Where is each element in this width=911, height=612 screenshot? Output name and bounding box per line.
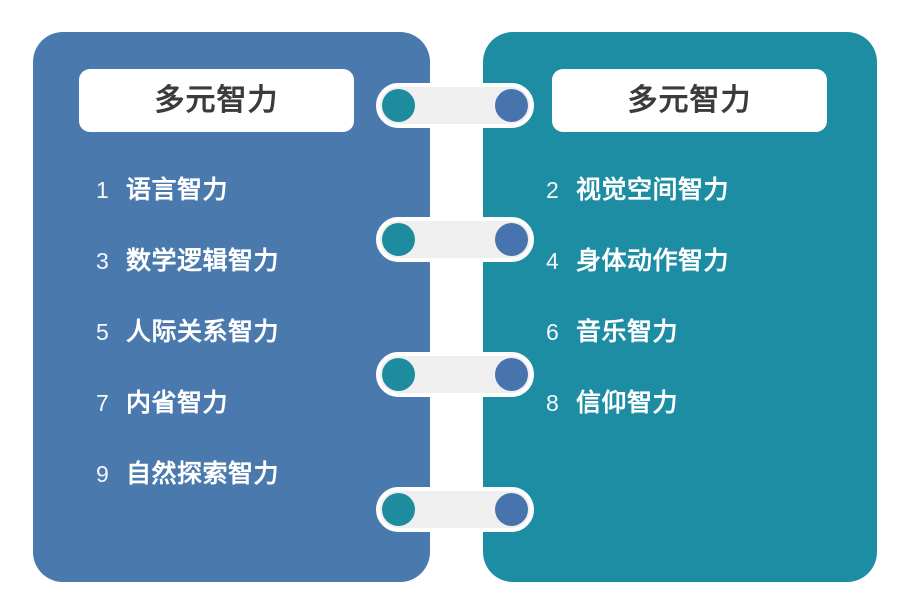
list-item: 6 音乐智力 <box>546 320 729 391</box>
diagram-canvas: 多元智力 多元智力 1 语言智力 3 数学逻辑智力 5 人际关系智力 7 内省智… <box>0 0 911 612</box>
left-panel-title-box: 多元智力 <box>79 69 354 132</box>
list-item-label: 数学逻辑智力 <box>126 249 279 274</box>
list-item-number: 8 <box>546 392 576 415</box>
left-panel-item-list: 1 语言智力 3 数学逻辑智力 5 人际关系智力 7 内省智力 9 自然探索智力 <box>96 178 279 533</box>
list-item: 5 人际关系智力 <box>96 320 279 391</box>
connector-dot-left-icon <box>382 89 415 122</box>
panel-connector <box>376 83 534 128</box>
right-panel-item-list: 2 视觉空间智力 4 身体动作智力 6 音乐智力 8 信仰智力 <box>546 178 729 462</box>
list-item-label: 内省智力 <box>126 391 228 416</box>
list-item-number: 1 <box>96 179 126 202</box>
list-item-number: 5 <box>96 321 126 344</box>
connector-dot-right-icon <box>495 89 528 122</box>
panel-connector <box>376 487 534 532</box>
list-item-number: 3 <box>96 250 126 273</box>
connector-dot-right-icon <box>495 358 528 391</box>
connector-dot-left-icon <box>382 493 415 526</box>
list-item-number: 4 <box>546 250 576 273</box>
list-item: 8 信仰智力 <box>546 391 729 462</box>
right-panel-title-text: 多元智力 <box>628 86 752 116</box>
list-item-number: 6 <box>546 321 576 344</box>
panel-connector <box>376 217 534 262</box>
connector-dot-right-icon <box>495 223 528 256</box>
connector-dot-left-icon <box>382 223 415 256</box>
list-item-label: 信仰智力 <box>576 391 678 416</box>
list-item: 2 视觉空间智力 <box>546 178 729 249</box>
list-item-label: 身体动作智力 <box>576 249 729 274</box>
list-item-number: 9 <box>96 463 126 486</box>
connector-dot-left-icon <box>382 358 415 391</box>
list-item: 7 内省智力 <box>96 391 279 462</box>
left-panel-title-text: 多元智力 <box>155 86 279 116</box>
list-item-label: 音乐智力 <box>576 320 678 345</box>
list-item: 4 身体动作智力 <box>546 249 729 320</box>
connector-dot-right-icon <box>495 493 528 526</box>
list-item-number: 2 <box>546 179 576 202</box>
right-panel-title-box: 多元智力 <box>552 69 827 132</box>
list-item: 3 数学逻辑智力 <box>96 249 279 320</box>
list-item: 1 语言智力 <box>96 178 279 249</box>
list-item-label: 自然探索智力 <box>126 462 279 487</box>
list-item-number: 7 <box>96 392 126 415</box>
list-item-label: 视觉空间智力 <box>576 178 729 203</box>
list-item: 9 自然探索智力 <box>96 462 279 533</box>
panel-connector <box>376 352 534 397</box>
list-item-label: 语言智力 <box>126 178 228 203</box>
list-item-label: 人际关系智力 <box>126 320 279 345</box>
